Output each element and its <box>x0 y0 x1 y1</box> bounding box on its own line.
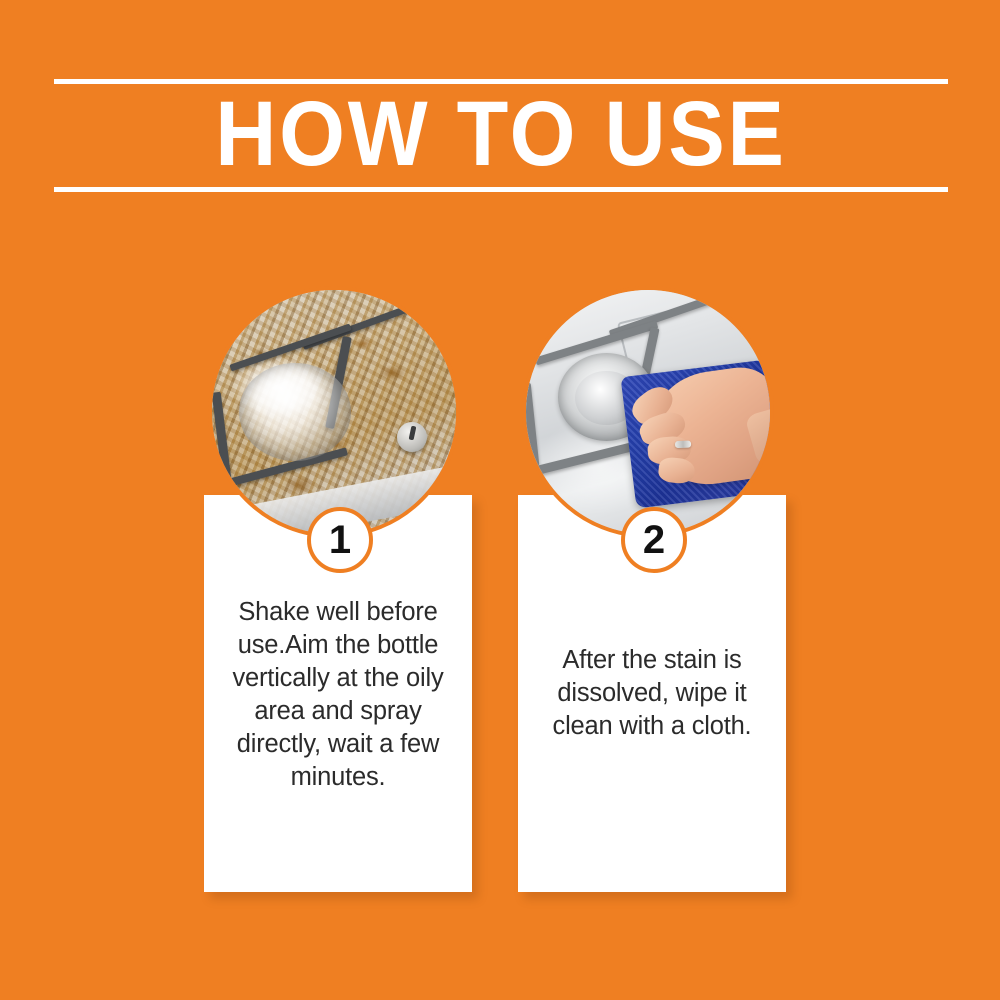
step-card-1: 1 Shake well before use.Aim the bottle v… <box>204 286 472 892</box>
step-1-photo-frame <box>208 286 460 538</box>
burner-grate-bar <box>212 392 232 480</box>
step-1-caption: Shake well before use.Aim the bottle ver… <box>217 596 459 794</box>
step-2-caption: After the stain is dissolved, wipe it cl… <box>531 644 773 743</box>
burner-grate-bar <box>302 305 410 350</box>
finger-ring-shape <box>675 440 691 448</box>
step-2-number-badge: 2 <box>621 507 687 573</box>
how-to-use-poster: HOW TO USE 1 Shake well before use. <box>0 0 1000 1000</box>
gas-burner-shape <box>239 363 351 461</box>
steps-container: 1 Shake well before use.Aim the bottle v… <box>0 0 1000 1000</box>
clean-stovetop-image <box>526 290 770 534</box>
finger-shape <box>657 456 695 484</box>
dirty-stovetop-image <box>212 290 456 534</box>
stove-knob-shape <box>397 422 427 452</box>
step-2-photo-frame <box>522 286 774 538</box>
wrist-shape <box>745 399 774 466</box>
burner-grate-bar <box>522 382 539 465</box>
step-1-number-badge: 1 <box>307 507 373 573</box>
step-card-2: 2 After the stain is dissolved, wipe it … <box>518 286 786 892</box>
